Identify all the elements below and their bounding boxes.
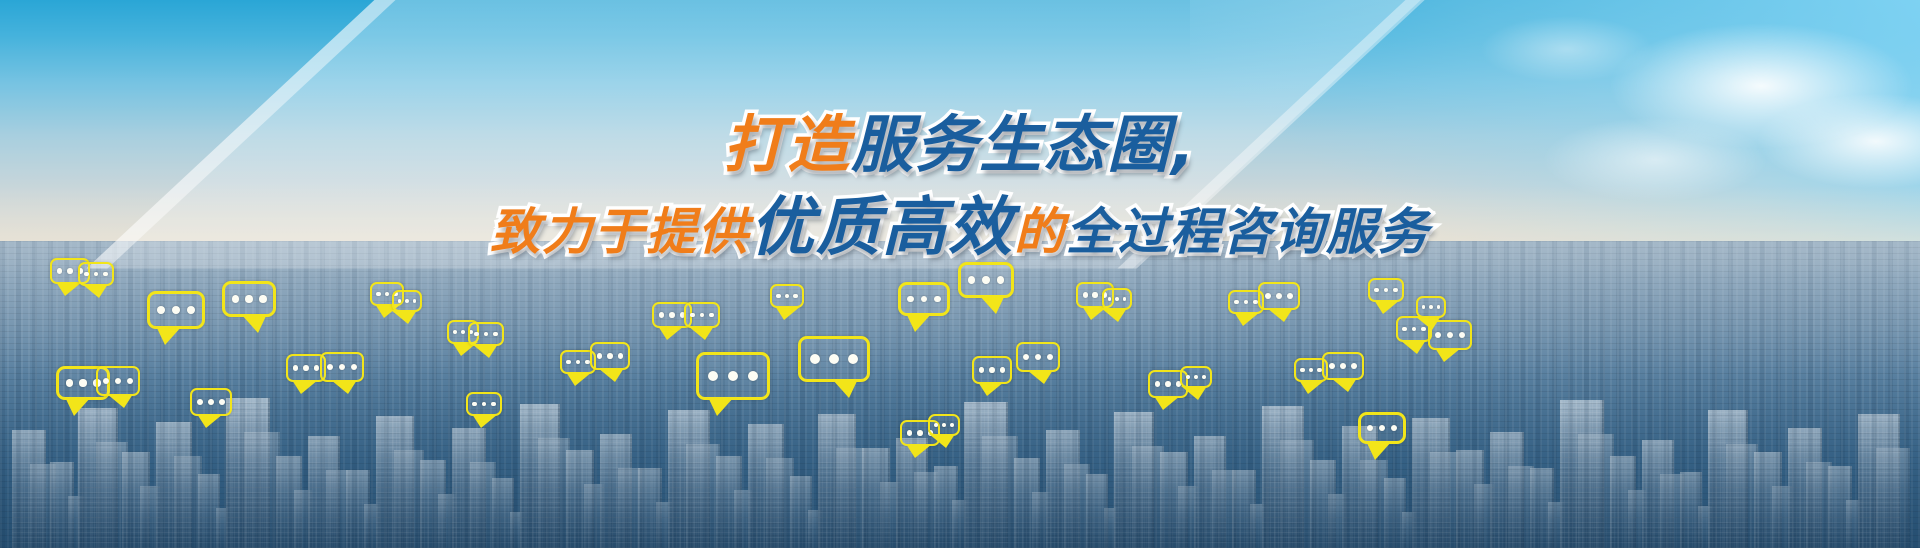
speech-bubble-dot bbox=[942, 423, 946, 427]
speech-bubble-dot bbox=[597, 353, 602, 358]
speech-bubble-tail bbox=[1234, 312, 1260, 326]
speech-bubble-dot bbox=[1108, 297, 1112, 301]
speech-bubble-dot bbox=[66, 379, 73, 386]
speech-bubble-tail bbox=[156, 326, 182, 345]
speech-bubble-tail bbox=[1374, 300, 1400, 314]
speech-bubble-tail bbox=[1435, 348, 1461, 362]
speech-bubble-tail bbox=[65, 397, 91, 416]
speech-bubble-dot bbox=[398, 299, 402, 303]
speech-bubble-dot bbox=[472, 402, 477, 407]
speech-bubble-body bbox=[1322, 352, 1364, 380]
speech-bubble-dot bbox=[1429, 305, 1433, 309]
speech-bubble-dot bbox=[1047, 354, 1053, 360]
speech-bubble-tail bbox=[331, 380, 357, 394]
speech-bubble-dot bbox=[84, 272, 89, 277]
speech-bubble-dot bbox=[748, 371, 758, 381]
speech-bubble-dot bbox=[1155, 381, 1160, 386]
speech-bubble-14 bbox=[466, 392, 502, 416]
speech-bubble-dot bbox=[491, 402, 496, 407]
speech-bubble-dot bbox=[1186, 375, 1190, 379]
speech-bubble-body bbox=[78, 262, 114, 286]
speech-bubble-4 bbox=[222, 281, 276, 317]
speech-bubble-tail bbox=[598, 368, 624, 382]
speech-bubble-dot bbox=[907, 296, 914, 303]
speech-bubble-dot bbox=[1234, 300, 1239, 305]
speech-bubble-dot bbox=[907, 430, 912, 435]
speech-bubble-body bbox=[466, 392, 502, 416]
speech-bubble-dot bbox=[103, 272, 108, 277]
speech-bubble-36 bbox=[1358, 412, 1406, 444]
speech-bubble-2 bbox=[78, 262, 114, 286]
speech-bubble-body bbox=[1016, 342, 1060, 372]
speech-bubble-tail bbox=[1154, 396, 1180, 410]
speech-bubble-body bbox=[222, 281, 276, 317]
speech-bubble-37 bbox=[1368, 278, 1404, 302]
speech-bubble-dot bbox=[127, 378, 133, 384]
speech-bubble-dot bbox=[793, 294, 798, 299]
speech-bubble-dot bbox=[607, 353, 612, 358]
speech-bubble-tail bbox=[775, 306, 801, 320]
speech-bubble-dot bbox=[351, 364, 357, 370]
speech-bubble-dot bbox=[219, 399, 225, 405]
speech-bubble-dot bbox=[669, 312, 674, 317]
speech-bubble-tail bbox=[1027, 370, 1053, 384]
speech-bubble-dot bbox=[690, 313, 695, 318]
speech-bubble-11 bbox=[392, 290, 422, 312]
speech-bubble-tail bbox=[82, 284, 108, 298]
speech-bubble-dot bbox=[1391, 425, 1397, 431]
speech-bubble-tail bbox=[929, 434, 955, 448]
speech-bubble-dot bbox=[1340, 363, 1346, 369]
speech-bubble-tail bbox=[472, 344, 498, 358]
speech-bubble-13 bbox=[468, 322, 504, 346]
speech-bubble-dot bbox=[1000, 367, 1005, 372]
speech-bubble-tail bbox=[1181, 386, 1207, 400]
speech-bubble-dot bbox=[1244, 300, 1249, 305]
speech-bubble-tail bbox=[292, 380, 318, 394]
speech-bubble-19 bbox=[696, 352, 770, 400]
speech-bubble-tail bbox=[832, 379, 858, 398]
speech-bubble-dot bbox=[1115, 297, 1119, 301]
speech-bubble-dot bbox=[482, 402, 487, 407]
speech-bubble-dot bbox=[453, 330, 457, 334]
speech-bubble-dot bbox=[461, 330, 465, 334]
speech-bubble-tail bbox=[1267, 308, 1293, 322]
speech-bubble-dot bbox=[968, 276, 976, 284]
speech-bubble-body bbox=[798, 336, 870, 382]
speech-bubble-dot bbox=[67, 268, 72, 273]
speech-bubble-dot bbox=[728, 371, 738, 381]
speech-bubble-dot bbox=[327, 364, 333, 370]
speech-bubble-dot bbox=[585, 360, 590, 365]
speech-bubble-18 bbox=[684, 302, 720, 328]
speech-bubble-dot bbox=[197, 399, 203, 405]
speech-bubble-23 bbox=[958, 262, 1014, 298]
speech-bubble-20 bbox=[798, 336, 870, 382]
speech-bubble-tail bbox=[1400, 340, 1426, 354]
speech-bubble-dot bbox=[982, 276, 990, 284]
speech-bubble-body bbox=[1102, 288, 1132, 310]
speech-bubble-body bbox=[972, 356, 1012, 384]
speech-bubble-tail bbox=[472, 414, 498, 428]
speech-bubble-dot bbox=[187, 306, 195, 314]
speech-bubble-dot bbox=[989, 367, 994, 372]
speech-bubble-dot bbox=[709, 313, 714, 318]
speech-bubble-tail bbox=[658, 326, 684, 340]
speech-bubble-tail bbox=[708, 397, 734, 416]
speech-bubble-dot bbox=[917, 430, 922, 435]
speech-bubble-tail bbox=[566, 372, 592, 386]
speech-bubble-body bbox=[898, 282, 950, 316]
speech-bubble-dot bbox=[1351, 363, 1357, 369]
speech-bubble-dot bbox=[1309, 368, 1314, 373]
speech-bubble-body bbox=[684, 302, 720, 328]
speech-bubble-3 bbox=[147, 291, 205, 329]
speech-bubble-dot bbox=[1447, 332, 1453, 338]
service-ecosystem-hero-banner: 打造服务生态圈, 致力于提供优质高效的全过程咨询服务 bbox=[0, 0, 1920, 548]
speech-bubble-dot bbox=[934, 423, 938, 427]
speech-bubble-dot bbox=[997, 276, 1005, 284]
speech-bubble-body bbox=[590, 342, 630, 370]
speech-bubble-body bbox=[928, 414, 960, 436]
speech-bubble-dot bbox=[232, 295, 239, 302]
speech-bubble-body bbox=[770, 284, 804, 308]
speech-bubble-dot bbox=[1276, 293, 1282, 299]
speech-bubble-dot bbox=[157, 306, 165, 314]
speech-bubble-dot bbox=[172, 306, 180, 314]
speech-bubble-7 bbox=[190, 388, 232, 416]
speech-bubble-tail bbox=[979, 295, 1005, 314]
speech-bubble-body bbox=[392, 290, 422, 312]
speech-bubble-dot bbox=[303, 365, 308, 370]
speech-bubble-dot bbox=[1194, 375, 1198, 379]
speech-bubble-dot bbox=[208, 399, 214, 405]
speech-bubble-tail bbox=[978, 382, 1004, 396]
speech-bubble-dot bbox=[94, 272, 99, 277]
speech-bubble-tail bbox=[241, 314, 267, 333]
speech-bubble-dot bbox=[1083, 292, 1088, 297]
speech-bubble-tail bbox=[107, 394, 133, 408]
speech-bubble-dot bbox=[1393, 288, 1398, 293]
speech-bubble-tail bbox=[1331, 378, 1357, 392]
speech-bubble-dot bbox=[1379, 425, 1385, 431]
speech-bubble-dot bbox=[245, 295, 252, 302]
speech-bubble-dot bbox=[785, 294, 790, 299]
speech-bubble-16 bbox=[590, 342, 630, 370]
speech-bubble-dot bbox=[1202, 375, 1206, 379]
speech-bubble-dot bbox=[103, 378, 109, 384]
speech-bubble-dot bbox=[259, 295, 266, 302]
speech-bubble-dot bbox=[810, 354, 820, 364]
speech-bubble-body bbox=[320, 352, 364, 382]
speech-bubble-dot bbox=[474, 332, 479, 337]
speech-bubble-35 bbox=[1322, 352, 1364, 380]
speech-bubble-body bbox=[468, 322, 504, 346]
speech-bubble-tail bbox=[1101, 308, 1127, 322]
speech-bubble-dot bbox=[659, 312, 664, 317]
speech-bubble-dot bbox=[1374, 288, 1379, 293]
speech-bubble-40 bbox=[1416, 296, 1446, 318]
speech-bubble-dot bbox=[776, 294, 781, 299]
speech-bubble-dot bbox=[1437, 305, 1441, 309]
speech-bubble-dot bbox=[1384, 288, 1389, 293]
speech-bubble-dot bbox=[708, 371, 718, 381]
speech-bubble-body bbox=[147, 291, 205, 329]
speech-bubble-dot bbox=[79, 379, 86, 386]
speech-bubble-body bbox=[1258, 282, 1300, 310]
speech-bubble-dot bbox=[979, 367, 984, 372]
speech-bubble-body bbox=[1416, 296, 1446, 318]
speech-bubble-dot bbox=[1459, 332, 1465, 338]
speech-bubble-dot bbox=[1265, 293, 1271, 299]
speech-bubble-25 bbox=[928, 414, 960, 436]
speech-bubble-29 bbox=[1102, 288, 1132, 310]
speech-bubble-dot bbox=[700, 313, 705, 318]
speech-bubble-tail bbox=[197, 414, 223, 428]
speech-bubble-26 bbox=[972, 356, 1012, 384]
speech-bubble-body bbox=[96, 366, 140, 396]
speech-bubble-body bbox=[190, 388, 232, 416]
speech-bubble-tail bbox=[906, 313, 932, 332]
speech-bubble-tail bbox=[688, 326, 714, 340]
speech-bubble-dot bbox=[385, 292, 390, 297]
speech-bubble-dot bbox=[57, 268, 62, 273]
speech-bubble-body bbox=[1368, 278, 1404, 302]
speech-bubble-dot bbox=[314, 365, 319, 370]
speech-bubble-dot bbox=[1329, 363, 1335, 369]
speech-bubble-dot bbox=[1023, 354, 1029, 360]
speech-bubble-dot bbox=[1300, 368, 1305, 373]
speech-bubble-27 bbox=[1016, 342, 1060, 372]
speech-bubble-dot bbox=[413, 299, 417, 303]
speech-bubble-body bbox=[696, 352, 770, 400]
speech-bubble-dot bbox=[293, 365, 298, 370]
speech-bubble-33 bbox=[1258, 282, 1300, 310]
speech-bubble-21 bbox=[770, 284, 804, 308]
speech-bubble-9 bbox=[320, 352, 364, 382]
speech-bubble-dot bbox=[950, 423, 954, 427]
speech-bubble-dot bbox=[484, 332, 489, 337]
speech-bubble-dot bbox=[1092, 292, 1097, 297]
speech-bubble-dot bbox=[1422, 305, 1426, 309]
speech-bubble-dot bbox=[1253, 300, 1258, 305]
speech-bubble-tail bbox=[391, 310, 417, 324]
speech-bubble-dot bbox=[493, 332, 498, 337]
speech-bubble-31 bbox=[1180, 366, 1212, 388]
speech-bubble-dot bbox=[618, 353, 623, 358]
speech-bubble-dot bbox=[848, 354, 858, 364]
speech-bubble-dot bbox=[339, 364, 345, 370]
speech-bubble-dot bbox=[376, 292, 381, 297]
speech-bubble-tail bbox=[1415, 316, 1441, 330]
speech-bubble-tail bbox=[1299, 380, 1325, 394]
speech-bubble-dot bbox=[829, 354, 839, 364]
speech-bubble-body bbox=[958, 262, 1014, 298]
speech-bubble-dot bbox=[1402, 327, 1407, 332]
speech-bubble-dot bbox=[576, 360, 581, 365]
speech-bubble-dot bbox=[1367, 425, 1373, 431]
speech-bubble-dot bbox=[1035, 354, 1041, 360]
speech-bubble-dot bbox=[921, 296, 928, 303]
speech-bubble-6 bbox=[96, 366, 140, 396]
speech-bubble-dot bbox=[934, 296, 941, 303]
speech-bubble-body bbox=[1180, 366, 1212, 388]
speech-bubble-dot bbox=[1165, 381, 1170, 386]
speech-bubble-dot bbox=[1435, 332, 1441, 338]
speech-bubble-dot bbox=[566, 360, 571, 365]
speech-bubble-dot bbox=[1123, 297, 1127, 301]
speech-bubble-dot bbox=[405, 299, 409, 303]
speech-bubble-tail bbox=[1366, 441, 1392, 460]
speech-bubble-dot bbox=[1287, 293, 1293, 299]
speech-bubble-dot bbox=[115, 378, 121, 384]
speech-bubble-22 bbox=[898, 282, 950, 316]
speech-bubble-body bbox=[1358, 412, 1406, 444]
